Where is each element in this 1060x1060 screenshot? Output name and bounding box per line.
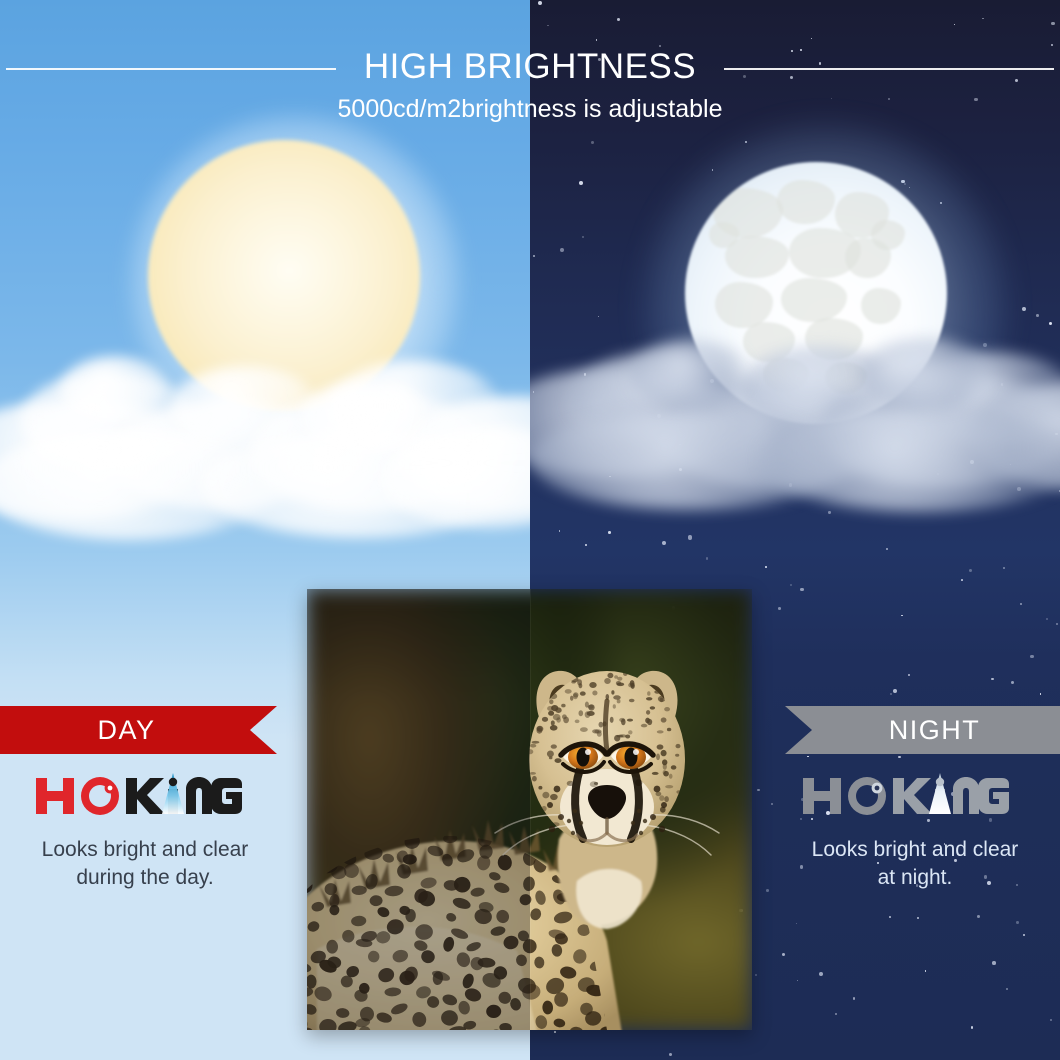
star-icon [688, 535, 692, 539]
star-icon [1050, 1019, 1053, 1022]
star-icon [954, 24, 956, 26]
star-icon [992, 961, 996, 965]
star-icon [554, 1031, 556, 1033]
cheetah-eye-left [561, 744, 606, 772]
star-icon [971, 1026, 974, 1029]
star-icon [890, 693, 892, 695]
header: HIGH BRIGHTNESS 5000cd/m2brightness is a… [0, 44, 1060, 144]
cloud-icon [300, 380, 430, 454]
night-caption: Looks bright and clear at night. [770, 836, 1060, 892]
star-icon [669, 1053, 672, 1056]
star-icon [582, 236, 583, 237]
star-icon [757, 789, 759, 791]
star-icon [765, 566, 767, 568]
star-icon [797, 980, 798, 981]
star-icon [901, 615, 902, 616]
star-icon [1056, 623, 1058, 625]
star-icon [662, 541, 666, 545]
day-ribbon: DAY [0, 706, 277, 754]
star-icon [1051, 22, 1055, 26]
cheetah-head [495, 671, 719, 855]
star-icon [547, 25, 549, 27]
title-rule-left [6, 68, 336, 70]
moon-crater [871, 220, 905, 250]
star-icon [766, 889, 769, 892]
star-icon [1040, 693, 1042, 695]
star-icon [778, 607, 781, 610]
star-icon [819, 972, 823, 976]
star-icon [991, 678, 994, 681]
star-icon [706, 557, 709, 560]
cloud-icon [630, 340, 750, 408]
star-icon [598, 316, 600, 318]
star-icon [1020, 603, 1022, 605]
star-icon [1011, 681, 1014, 684]
cheetah-illustration [307, 589, 752, 1030]
night-caption-line2: at night. [770, 864, 1060, 892]
star-icon [807, 756, 808, 757]
star-icon [1049, 322, 1052, 325]
star-icon [1003, 567, 1005, 569]
night-hoking-logo: HoKING [772, 770, 1042, 826]
star-icon [560, 248, 564, 252]
title-row: HIGH BRIGHTNESS [0, 44, 1060, 90]
star-icon [977, 915, 980, 918]
star-icon [755, 974, 757, 976]
star-icon [886, 548, 888, 550]
day-caption: Looks bright and clear during the day. [0, 836, 290, 892]
star-icon [811, 38, 812, 39]
day-ribbon-label: DAY [0, 706, 277, 754]
star-icon [533, 255, 535, 257]
night-caption-line1: Looks bright and clear [770, 836, 1060, 864]
star-icon [617, 18, 620, 21]
star-icon [1006, 988, 1008, 990]
cloud-icon [860, 338, 990, 410]
star-icon [790, 584, 793, 587]
star-icon [1016, 921, 1019, 924]
cheetah-photo [307, 589, 752, 1030]
star-icon [782, 953, 786, 957]
night-ribbon: NIGHT [785, 706, 1060, 754]
star-icon [898, 756, 901, 759]
day-caption-line1: Looks bright and clear [0, 836, 290, 864]
star-icon [889, 916, 891, 918]
star-icon [538, 1, 542, 5]
star-icon [596, 39, 597, 40]
star-icon [1023, 934, 1025, 936]
star-icon [1030, 655, 1034, 659]
hoking-logo-day-icon: HoKING [34, 770, 246, 822]
star-icon [969, 569, 973, 573]
day-hoking-logo: HoKING [5, 770, 275, 826]
photo-scene [307, 589, 752, 1030]
page-title: HIGH BRIGHTNESS [346, 44, 714, 90]
hoking-logo-night-icon: HoKING [801, 770, 1013, 822]
star-icon [1046, 618, 1049, 621]
star-icon [835, 1013, 837, 1015]
title-rule-right [724, 68, 1054, 70]
cloud-icon [760, 408, 1060, 512]
moon-crater [861, 288, 901, 324]
page-subtitle: 5000cd/m2brightness is adjustable [0, 92, 1060, 126]
star-icon [608, 531, 611, 534]
star-icon [800, 588, 804, 592]
star-icon [925, 970, 926, 971]
star-icon [853, 997, 855, 999]
cheetah-eye-right [608, 744, 653, 772]
star-icon [908, 674, 910, 676]
star-icon [961, 579, 963, 581]
comparison-banner: HIGH BRIGHTNESS 5000cd/m2brightness is a… [0, 0, 1060, 1060]
moon-crater [777, 180, 835, 224]
cloud-icon [60, 356, 170, 422]
star-icon [585, 544, 587, 546]
day-caption-line2: during the day. [0, 864, 290, 892]
night-ribbon-label: NIGHT [785, 706, 1060, 754]
star-icon [893, 689, 897, 693]
star-icon [579, 181, 583, 185]
star-icon [796, 923, 798, 925]
star-icon [828, 511, 830, 513]
moon-crater [781, 278, 847, 322]
star-icon [1022, 307, 1026, 311]
star-icon [982, 18, 983, 19]
star-icon [559, 530, 560, 531]
star-icon [1036, 314, 1039, 317]
star-icon [917, 917, 919, 919]
